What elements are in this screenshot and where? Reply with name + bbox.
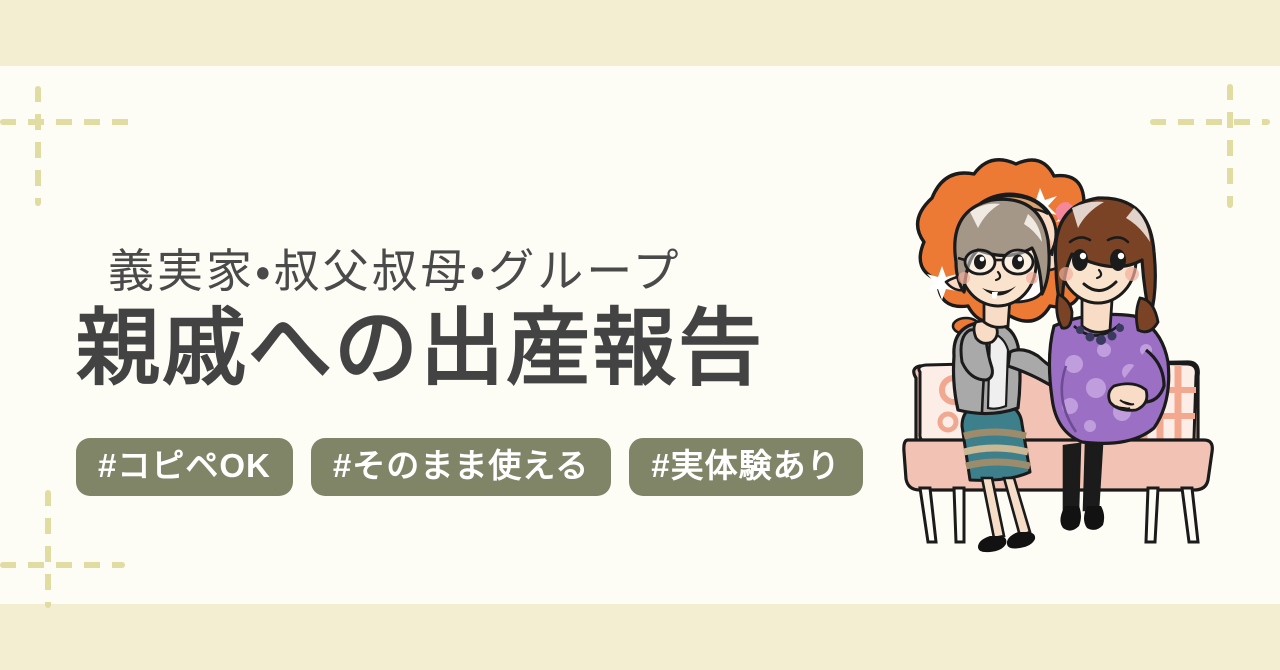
tag-badge-ready-to-use[interactable]: #そのまま使える <box>311 438 611 496</box>
banner-headline: 親戚への出産報告 <box>76 304 906 393</box>
banner-subtitle: 義実家・叔父叔母・グループ <box>108 248 906 294</box>
tag-badge-real-experience[interactable]: #実体験あり <box>629 438 862 496</box>
tag-badge-copy-ok[interactable]: #コピペOK <box>76 438 293 496</box>
illustration-two-women-on-sofa <box>858 150 1258 570</box>
banner-root: 義実家・叔父叔母・グループ 親戚への出産報告 #コピペOK #そのまま使える #… <box>0 0 1280 670</box>
headline-block: 義実家・叔父叔母・グループ 親戚への出産報告 <box>76 248 906 393</box>
tag-row: #コピペOK #そのまま使える #実体験あり <box>76 438 863 496</box>
